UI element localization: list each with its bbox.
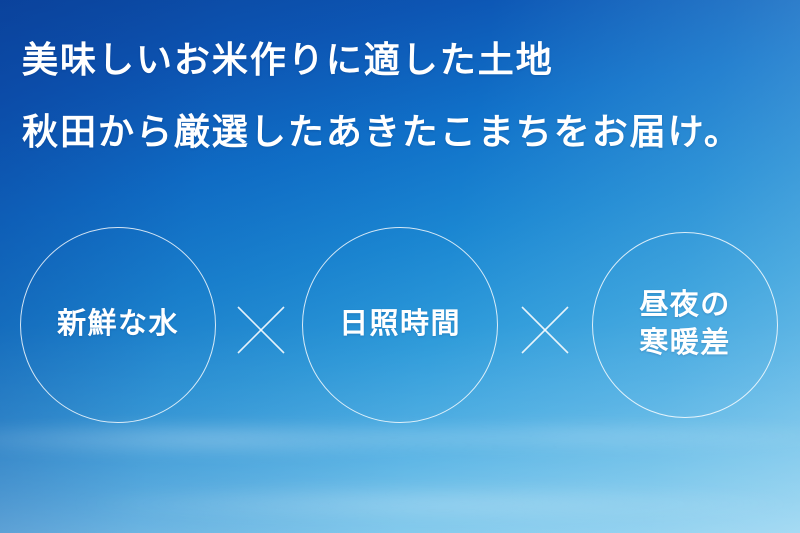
factor-circle-sunshine-hours[interactable]: 日照時間 [302,227,498,423]
headline-line-1: 美味しいお米作りに適した土地 [22,42,778,78]
headline-line-2: 秋田から厳選したあきたこまちをお届け。 [22,114,778,150]
rice-promo-banner: 美味しいお米作りに適した土地 秋田から厳選したあきたこまちをお届け。 新鮮な水 … [0,0,800,533]
factor-label-line: 寒暖差 [639,325,730,363]
multiply-icon-2 [519,304,571,356]
factor-circle-day-night-temperature-difference[interactable]: 昼夜の 寒暖差 [592,232,778,418]
factor-circle-fresh-water[interactable]: 新鮮な水 [20,227,216,423]
headline: 美味しいお米作りに適した土地 秋田から厳選したあきたこまちをお届け。 [22,42,778,150]
factor-label-line: 日照時間 [339,306,461,344]
factor-label-fresh-water: 新鮮な水 [57,306,179,344]
factor-label-line: 新鮮な水 [57,306,179,344]
factor-label-day-night-temperature-difference: 昼夜の 寒暖差 [639,287,730,362]
factor-label-line: 昼夜の [639,287,730,325]
factor-label-sunshine-hours: 日照時間 [339,306,461,344]
multiply-icon-1 [235,304,287,356]
